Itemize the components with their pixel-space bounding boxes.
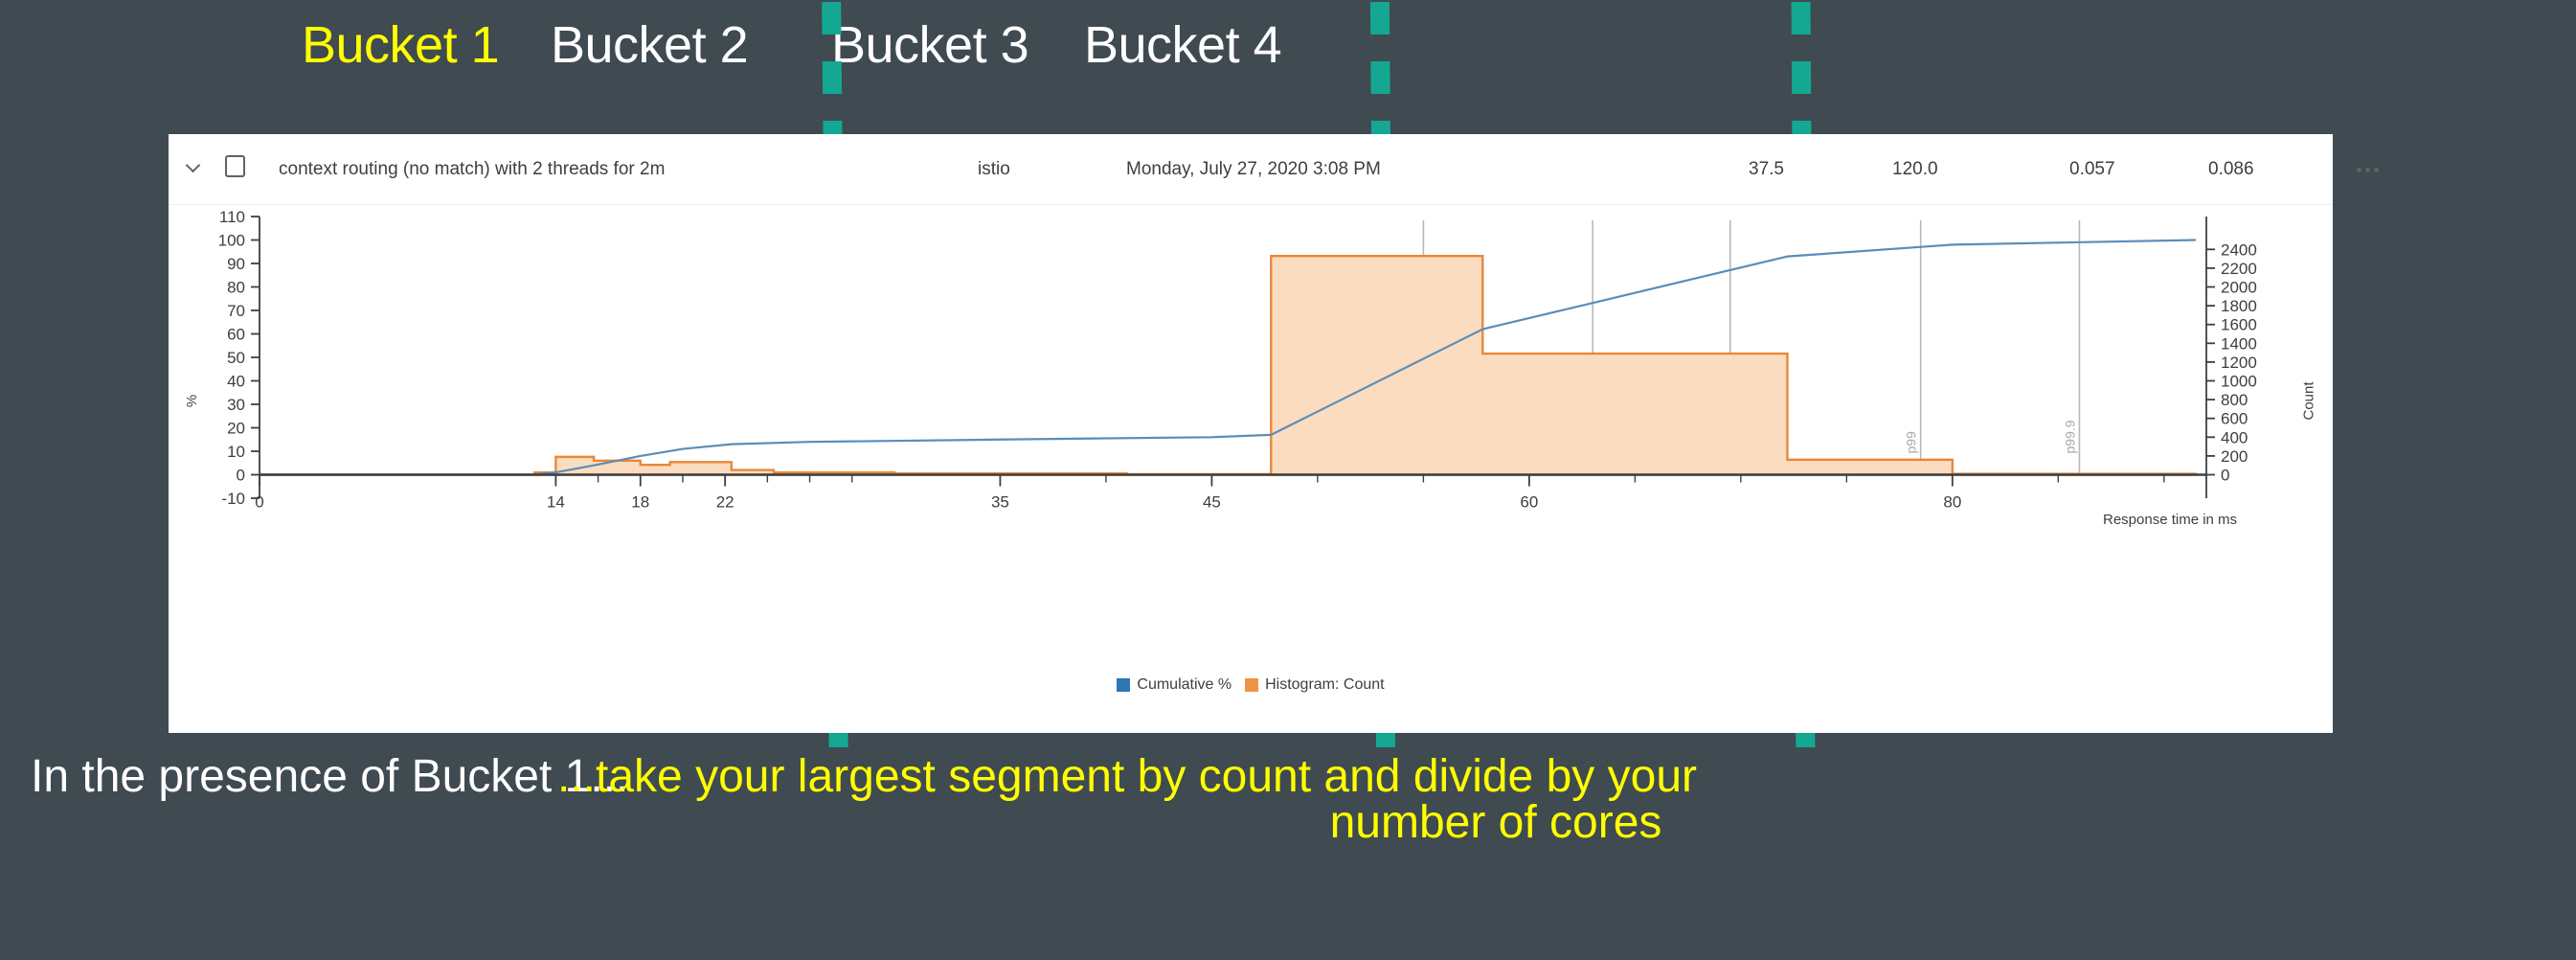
bucket-label-4: Bucket 4 [1084,17,1276,73]
row-date: Monday, July 27, 2020 3:08 PM [1126,134,1381,205]
more-options-icon[interactable] [2357,134,2379,205]
row-name: context routing (no match) with 2 thread… [279,134,665,205]
svg-text:110: 110 [219,208,245,226]
svg-text:1200: 1200 [2221,354,2257,372]
svg-text:22: 22 [716,493,734,512]
svg-text:p99.9: p99.9 [2062,420,2077,453]
row-tag: istio [978,134,1010,205]
bucket-header-band: Bucket 1 Bucket 2 Bucket 3 Bucket 4 [0,0,2576,134]
svg-text:80: 80 [1943,493,1961,512]
svg-text:100: 100 [218,232,245,250]
svg-text:18: 18 [631,493,649,512]
svg-text:1600: 1600 [2221,316,2257,334]
y-axis-title: % [184,395,200,407]
x-axis-title: Response time in ms [2103,512,2237,528]
svg-text:0: 0 [2221,467,2229,485]
legend-item-histogram[interactable]: Histogram: Count [1245,676,1385,694]
histogram-chart: p50p75p90p99p99.9-1001020304050607080901… [169,205,2333,733]
svg-text:400: 400 [2221,428,2248,446]
legend-swatch-cumulative [1117,678,1130,692]
svg-text:0: 0 [237,467,245,485]
svg-text:40: 40 [227,373,245,391]
legend-swatch-histogram [1245,678,1258,692]
svg-text:800: 800 [2221,391,2248,409]
legend-label-histogram: Histogram: Count [1265,676,1385,694]
svg-text:2200: 2200 [2221,260,2257,278]
svg-text:30: 30 [227,396,245,414]
row-metric-3: 0.057 [2069,134,2115,205]
svg-text:20: 20 [227,420,245,438]
svg-text:90: 90 [227,255,245,273]
bucket-label-2: Bucket 2 [551,17,742,73]
chart-legend: Cumulative % Histogram: Count [169,676,2333,694]
row-metric-4: 0.086 [2208,134,2254,205]
svg-text:2400: 2400 [2221,240,2257,259]
svg-text:1400: 1400 [2221,334,2257,353]
legend-label-cumulative: Cumulative % [1137,676,1232,694]
result-card: context routing (no match) with 2 thread… [169,134,2333,733]
chevron-down-icon[interactable] [187,159,201,173]
svg-text:60: 60 [1520,493,1538,512]
svg-text:14: 14 [547,493,565,512]
svg-text:60: 60 [227,326,245,344]
bucket-label-3: Bucket 3 [831,17,1023,73]
caption-right-line2: number of cores [557,795,2434,851]
result-row[interactable]: context routing (no match) with 2 thread… [169,134,2333,205]
svg-text:p99: p99 [1904,431,1919,454]
svg-text:-10: -10 [221,490,245,508]
row-checkbox[interactable] [225,155,245,177]
row-metric-1: 37.5 [1749,134,1784,205]
svg-text:600: 600 [2221,410,2248,428]
row-metric-2: 120.0 [1892,134,1938,205]
svg-text:50: 50 [227,349,245,367]
svg-text:80: 80 [227,279,245,297]
svg-text:0: 0 [255,493,263,512]
svg-text:1000: 1000 [2221,373,2257,391]
svg-text:200: 200 [2221,447,2248,466]
chart-svg: p50p75p90p99p99.9-1001020304050607080901… [169,205,2333,733]
svg-text:1800: 1800 [2221,297,2257,315]
svg-text:45: 45 [1203,493,1221,512]
legend-item-cumulative[interactable]: Cumulative % [1117,676,1232,694]
bucket-label-1: Bucket 1 [302,17,493,73]
svg-text:35: 35 [991,493,1009,512]
svg-text:10: 10 [227,443,245,461]
caption-left: In the presence of Bucket 1... [31,749,628,805]
svg-text:2000: 2000 [2221,279,2257,297]
y2-axis-title: Count [2301,381,2317,420]
svg-text:70: 70 [227,302,245,320]
